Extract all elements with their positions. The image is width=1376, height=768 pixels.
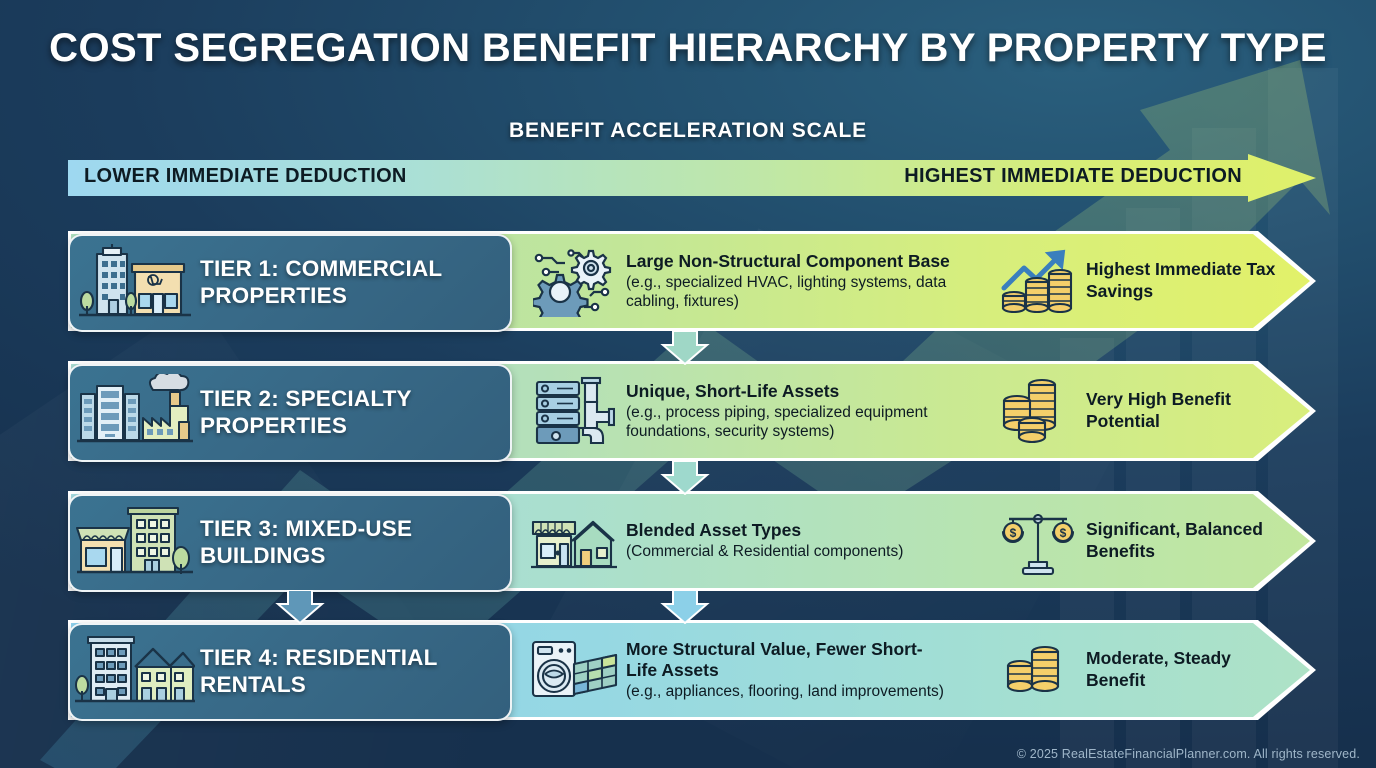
svg-text:$: $	[1010, 526, 1017, 540]
storefront-and-apartment-icon	[70, 496, 200, 590]
page-title: COST SEGREGATION BENEFIT HIERARCHY BY PR…	[0, 26, 1376, 71]
data-center-and-factory-icon	[70, 366, 200, 460]
tier-right-2: Very High Benefit Potential	[990, 361, 1290, 461]
benefit-acceleration-scale: LOWER IMMEDIATE DEDUCTION HIGHEST IMMEDI…	[68, 154, 1316, 202]
tier-mid-text-4: More Structural Value, Fewer Short-Life …	[626, 639, 946, 701]
tier-mid-text-1: Large Non-Structural Component Base (e.g…	[626, 251, 978, 311]
tier-card-1[interactable]: TIER 1: COMMERCIAL PROPERTIES	[68, 234, 512, 332]
apartment-and-houses-icon	[70, 625, 200, 719]
mid-head-1: Large Non-Structural Component Base	[626, 251, 978, 272]
gears-and-circuit-icon	[522, 231, 626, 331]
right-text-4: Moderate, Steady Benefit	[1086, 648, 1276, 691]
mid-sub-1: (e.g., specialized HVAC, lighting system…	[626, 273, 978, 311]
connector-arrow-2-3	[659, 461, 711, 495]
tier-mid-text-2: Unique, Short-Life Assets (e.g., process…	[626, 381, 992, 441]
washing-machine-and-flooring-icon	[522, 620, 626, 720]
scale-title: BENEFIT ACCELERATION SCALE	[0, 119, 1376, 143]
tier-mid-text-3: Blended Asset Types (Commercial & Reside…	[626, 520, 903, 561]
tier-mid-1: Large Non-Structural Component Base (e.g…	[522, 231, 992, 331]
tier-label-1: TIER 1: COMMERCIAL PROPERTIES	[200, 256, 510, 309]
infographic-canvas: COST SEGREGATION BENEFIT HIERARCHY BY PR…	[0, 0, 1376, 768]
tier-row-1: TIER 1: COMMERCIAL PROPERTIES	[0, 231, 1376, 331]
footer-copyright: © 2025 RealEstateFinancialPlanner.com. A…	[1017, 747, 1360, 761]
connector-arrow-3-4-right	[659, 590, 711, 624]
connector-arrow-1-2	[659, 331, 711, 365]
coin-stacks-icon	[990, 361, 1086, 461]
mid-head-3: Blended Asset Types	[626, 520, 903, 541]
scale-right-label: HIGHEST IMMEDIATE DEDUCTION	[904, 165, 1242, 188]
coin-stacks-growth-arrow-icon	[990, 231, 1086, 331]
tier-card-4[interactable]: TIER 4: RESIDENTIAL RENTALS	[68, 623, 512, 721]
coin-stacks-small-icon	[990, 620, 1086, 720]
tier-right-4: Moderate, Steady Benefit	[990, 620, 1290, 720]
mid-sub-2: (e.g., process piping, specialized equip…	[626, 403, 992, 441]
right-text-1: Highest Immediate Tax Savings	[1086, 259, 1276, 302]
tier-right-1: Highest Immediate Tax Savings	[990, 231, 1290, 331]
tier-row-3: TIER 3: MIXED-USE BUILDINGS	[0, 491, 1376, 591]
mid-head-2: Unique, Short-Life Assets	[626, 381, 992, 402]
tier-card-3[interactable]: TIER 3: MIXED-USE BUILDINGS	[68, 494, 512, 592]
right-text-3: Significant, Balanced Benefits	[1086, 519, 1286, 562]
svg-text:$: $	[1060, 526, 1067, 540]
balance-scale-dollars-icon: $ $	[990, 491, 1086, 591]
tier-mid-2: Unique, Short-Life Assets (e.g., process…	[522, 361, 992, 461]
tier-label-2: TIER 2: SPECIALTY PROPERTIES	[200, 386, 510, 439]
tier-label-4: TIER 4: RESIDENTIAL RENTALS	[200, 645, 510, 698]
mid-sub-3: (Commercial & Residential components)	[626, 542, 903, 561]
tier-row-2: TIER 2: SPECIALTY PROPERTIES	[0, 361, 1376, 461]
mid-sub-4: (e.g., appliances, flooring, land improv…	[626, 682, 946, 701]
server-rack-and-piping-icon	[522, 361, 626, 461]
right-text-2: Very High Benefit Potential	[1086, 389, 1276, 432]
shop-and-house-icon	[522, 491, 626, 591]
tier-mid-4: More Structural Value, Fewer Short-Life …	[522, 620, 992, 720]
tier-card-2[interactable]: TIER 2: SPECIALTY PROPERTIES	[68, 364, 512, 462]
tier-row-4: TIER 4: RESIDENTIAL RENTALS	[0, 620, 1376, 720]
office-and-retail-buildings-icon	[70, 236, 200, 330]
tier-label-3: TIER 3: MIXED-USE BUILDINGS	[200, 516, 510, 569]
tier-right-3: $ $ Significant, Balanced Benefits	[990, 491, 1290, 591]
tier-mid-3: Blended Asset Types (Commercial & Reside…	[522, 491, 992, 591]
scale-left-label: LOWER IMMEDIATE DEDUCTION	[84, 165, 407, 188]
connector-arrow-3-4-left	[274, 590, 326, 624]
mid-head-4: More Structural Value, Fewer Short-Life …	[626, 639, 946, 681]
